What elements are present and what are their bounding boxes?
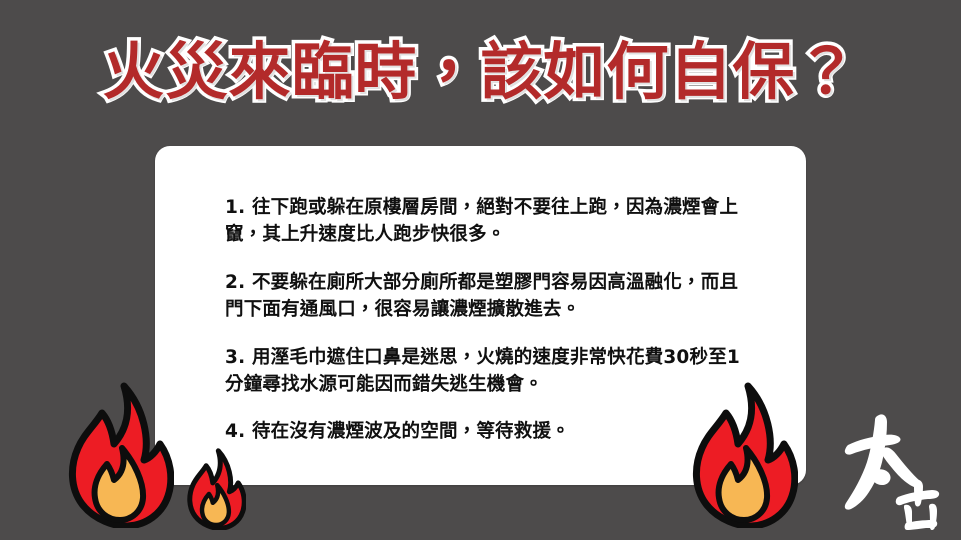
safety-tips-list: 1. 往下跑或躲在原樓層房間，絕對不要往上跑，因為濃煙會上竄，其上升速度比人跑步… (225, 194, 755, 446)
list-item: 3. 用溼毛巾遮住口鼻是迷思，火燒的速度非常快花費30秒至1分鐘尋找水源可能因而… (225, 344, 755, 399)
list-item: 4. 待在沒有濃煙波及的空間，等待救援。 (225, 418, 755, 445)
flame-icon (62, 382, 174, 528)
page-title: 火災來臨時，該如何自保？ (102, 41, 858, 103)
list-item: 2. 不要躲在廁所大部分廁所都是塑膠門容易因高溫融化，而且門下面有通風口，很容易… (225, 269, 755, 324)
brand-logo: 太古 (836, 404, 944, 530)
list-item: 1. 往下跑或躲在原樓層房間，絕對不要往上跑，因為濃煙會上竄，其上升速度比人跑步… (225, 194, 755, 249)
flame-icon (686, 382, 798, 528)
flame-icon (184, 448, 246, 530)
slide-canvas: 火災來臨時，該如何自保？ 1. 往下跑或躲在原樓層房間，絕對不要往上跑，因為濃煙… (0, 0, 961, 540)
title-banner: 火災來臨時，該如何自保？ (0, 34, 961, 110)
